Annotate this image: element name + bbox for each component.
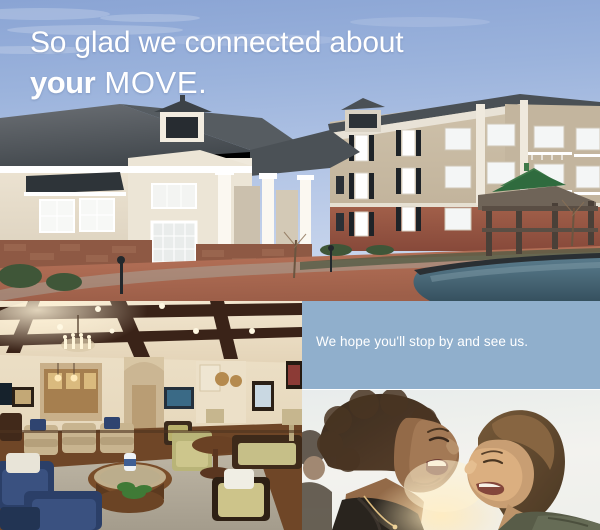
headline-emphasis: your: [30, 65, 95, 100]
hero-headline: So glad we connected about your MOVE.: [30, 28, 570, 98]
email-body: So glad we connected about your MOVE.: [0, 0, 600, 530]
headline-line-1: So glad we connected about: [30, 28, 570, 58]
apartment-building: [328, 94, 600, 251]
message-text: We hope you'll stop by and see us.: [316, 334, 588, 349]
couple-image: [302, 390, 600, 530]
lower-section: We hope you'll stop by and see us.: [0, 301, 600, 530]
headline-rest: MOVE.: [95, 65, 207, 100]
interior-image: [0, 301, 302, 530]
message-panel: We hope you'll stop by and see us.: [302, 301, 600, 389]
couple-photo-illustration: [302, 390, 600, 530]
lobby-interior-illustration: [0, 301, 302, 530]
headline-line-2: your MOVE.: [30, 67, 570, 98]
hero-image: So glad we connected about your MOVE.: [0, 0, 600, 301]
